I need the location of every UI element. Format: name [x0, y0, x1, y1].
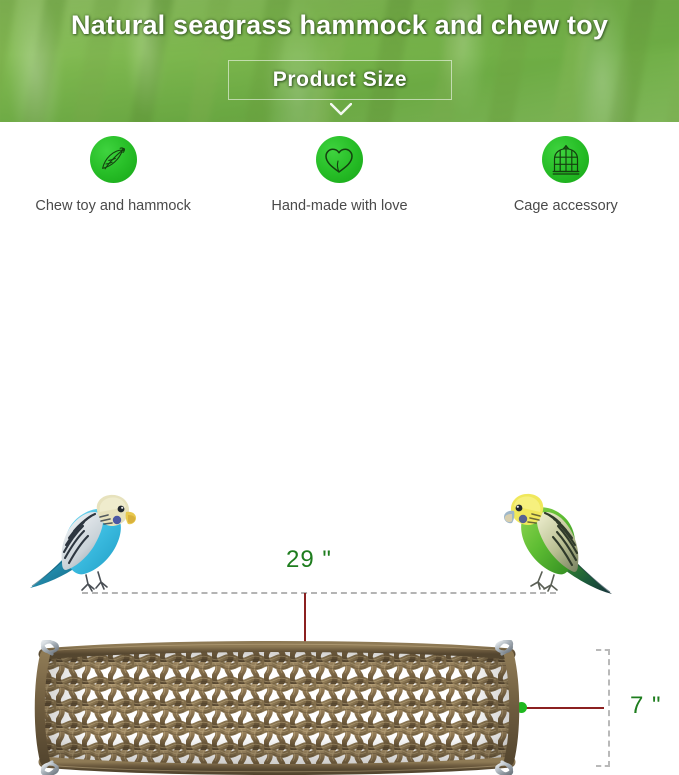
product-size-box: Product Size	[228, 60, 452, 100]
feature-item-cage: Cage accessory	[453, 136, 679, 214]
heart-icon	[323, 145, 355, 175]
product-diagram: 29 " 7 "	[0, 240, 679, 548]
width-dimension-label: 29 "	[286, 546, 332, 574]
green-budgerigar-image	[500, 490, 620, 598]
page-title: Natural seagrass hammock and chew toy	[0, 10, 679, 41]
feature-list: Chew toy and hammock Hand-made with love	[0, 136, 679, 214]
feature-badge	[90, 136, 137, 183]
feature-label: Cage accessory	[514, 198, 618, 214]
height-measure-bracket	[596, 649, 610, 767]
width-guide-line	[82, 592, 556, 594]
feature-label: Chew toy and hammock	[35, 198, 191, 214]
product-size-label: Product Size	[273, 68, 407, 92]
height-leader-line	[520, 707, 604, 709]
seagrass-mat-image	[30, 640, 524, 775]
mat-hook-icon	[497, 762, 512, 775]
feature-badge	[316, 136, 363, 183]
mat-hook-icon	[42, 762, 57, 775]
mat-hook-icon	[42, 640, 57, 654]
feature-item-handmade: Hand-made with love	[226, 136, 452, 214]
header-banner: Natural seagrass hammock and chew toy Pr…	[0, 0, 679, 122]
feature-item-chew-toy: Chew toy and hammock	[0, 136, 226, 214]
bird-icon	[96, 143, 130, 177]
blue-budgerigar-image	[22, 492, 144, 596]
mat-hook-icon	[497, 640, 512, 654]
chevron-down-icon	[330, 103, 352, 116]
feature-label: Hand-made with love	[271, 198, 407, 214]
feature-badge	[542, 136, 589, 183]
height-dimension-label: 7 "	[630, 692, 662, 720]
birdcage-icon	[550, 143, 582, 177]
